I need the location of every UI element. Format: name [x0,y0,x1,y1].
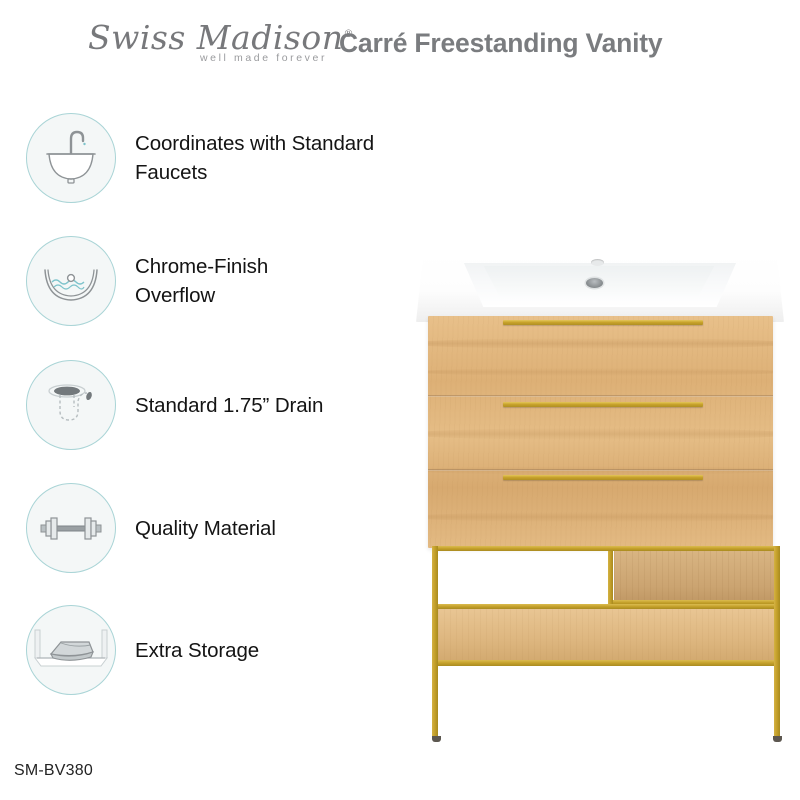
ceramic-sink-top [416,254,784,322]
drain-pipe-icon [26,360,116,450]
sink-faucet-icon [26,113,116,203]
feature-item-quality-material: Quality Material [26,482,276,574]
feature-item-coordinates-with-standard-faucets: Coordinates with Standard Faucets [26,112,420,204]
folded-towels-shelf-icon [26,605,116,695]
lower-open-shelf [438,608,774,662]
feature-label: Quality Material [135,514,276,543]
frame-rail-top [432,546,614,551]
frame-leg-front-left [432,546,438,738]
drawer-seam [428,395,773,397]
brand-logo: Swiss Madison® well made forever [88,18,320,74]
leg-foot-left [432,736,441,742]
product-sku: SM-BV380 [14,762,93,780]
page-title: Carré Freestanding Vanity [339,28,662,59]
frame-leg-front-right [774,546,780,738]
feature-item-standard-drain: Standard 1.75” Drain [26,359,323,451]
feature-label: Chrome-Finish Overflow [135,252,268,310]
leg-foot-right [773,736,782,742]
dumbbell-icon [26,483,116,573]
feature-label: Standard 1.75” Drain [135,391,323,420]
upper-open-shelf [614,550,774,602]
faucet-hole [591,259,604,266]
drawer-handle-top [503,320,703,325]
drawer-handle-bottom [503,475,703,480]
brand-tagline: well made forever [200,52,327,64]
feature-label: Coordinates with Standard Faucets [135,129,420,187]
product-image-carre-freestanding-vanity [408,236,792,760]
vanity-cabinet [428,316,773,548]
lower-shelf-rail-top [432,604,780,609]
brand-logo-name: Swiss Madison® [88,18,320,55]
overflow-basin-icon [26,236,116,326]
page-header: Swiss Madison® well made forever Carré F… [0,0,800,86]
feature-item-extra-storage: Extra Storage [26,604,259,696]
lower-shelf-rail-bottom [432,660,780,666]
feature-item-chrome-finish-overflow: Chrome-Finish Overflow [26,235,268,327]
sink-drain [586,278,603,288]
upper-shelf-post-left [608,546,613,605]
feature-label: Extra Storage [135,636,259,665]
drawer-seam [428,469,773,471]
upper-shelf-rail-top [608,546,780,551]
drawer-handle-middle [503,402,703,407]
